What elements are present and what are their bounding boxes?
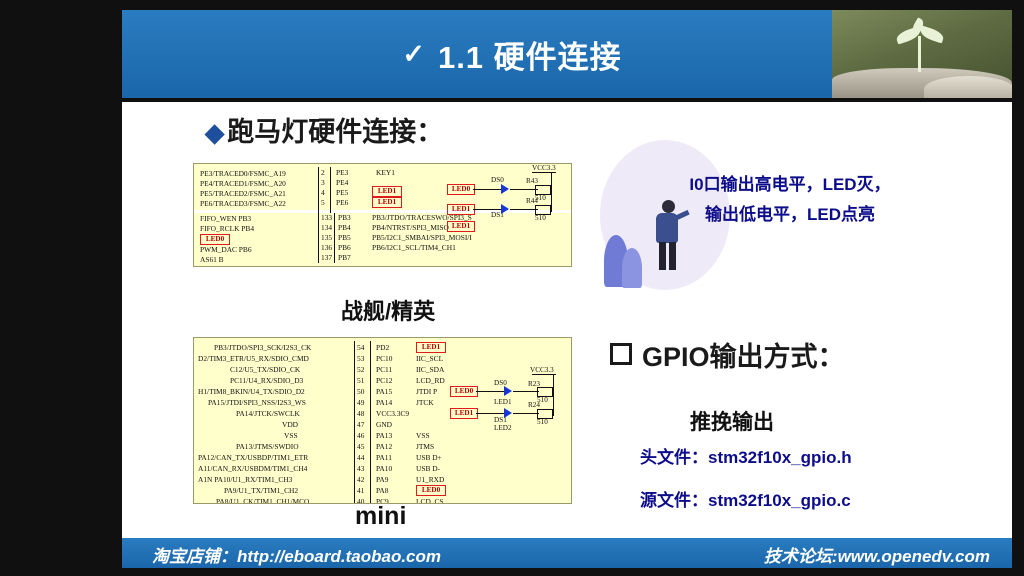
heading-runlight-text: 跑马灯硬件连接： <box>227 117 443 147</box>
photo-stone-2 <box>924 76 1012 98</box>
sch1-right-4: PB3 <box>338 213 351 222</box>
sch2-name-2: PC11 <box>376 365 392 374</box>
caption-board-mini: mini <box>355 502 406 531</box>
sch1-right-8: PB7 <box>338 253 351 262</box>
sch1-pin-7: PWM_DAC PB6 <box>200 245 252 254</box>
caption-board-zhanjian: 战舰/精英 <box>341 294 435 326</box>
sch2-label-led2: LED2 <box>494 424 512 432</box>
sch1-num-8: 137 <box>321 253 332 262</box>
sch2-name-6: VCC3.3C9 <box>376 409 409 418</box>
sch1-sig-7: PB6/I2C1_SCL/TIM4_CH1 <box>372 243 456 252</box>
push-pull-text: 推挽输出 <box>690 406 774 436</box>
sch2-sig-14: LCD_CS <box>416 497 444 504</box>
sch1-label-ds0: DS0 <box>491 176 504 184</box>
sch1-right-5: PB4 <box>338 223 351 232</box>
sch2-left-3: PC11/U4_RX/SDIO_D3 <box>230 376 303 385</box>
diamond-icon: ◆ <box>205 119 224 147</box>
sch2-name-5: PA14 <box>376 398 392 407</box>
check-icon: ✓ <box>402 39 426 70</box>
sprout-stem <box>918 36 921 72</box>
sch1-netlabel-led1-c: LED1 <box>447 221 475 232</box>
sch2-num-9: 45 <box>357 442 364 451</box>
sch2-left-2: C12/U5_TX/SDIO_CK <box>230 365 300 374</box>
sch2-left-12: A1N PA10/U1_RX/TIM1_CH3 <box>198 475 292 484</box>
sch2-sig-7: VSS <box>416 431 430 440</box>
sch2-num-12: 42 <box>357 475 364 484</box>
sch2-left-1: D2/TIM3_ETR/U5_RX/SDIO_CMD <box>198 354 309 363</box>
sch2-left-0: PB3/JTDO/SPI3_SCK/I2S3_CK <box>214 343 311 352</box>
footer-shop-link[interactable]: 淘宝店铺：http://eboard.taobao.com <box>152 542 441 567</box>
person-leg-left <box>659 242 666 270</box>
sch2-name-1: PC10 <box>376 354 392 363</box>
sch1-led1-symbol <box>501 204 509 214</box>
sch1-num-0: 2 <box>321 168 325 177</box>
sch2-sig-4: JTDI P <box>416 387 437 396</box>
sch1-label-510b: 510 <box>535 214 546 222</box>
sch2-label-led1b: LED1 <box>494 398 512 406</box>
frame-right <box>1012 0 1024 576</box>
sch2-left-6: PA14/JTCK/SWCLK <box>236 409 300 418</box>
sch1-pin-3: PE6/TRACED3/FSMC_A22 <box>200 199 286 208</box>
sch1-sig-0: KEY1 <box>376 168 395 177</box>
sch2-sig-5: JTCK <box>416 398 434 407</box>
sch2-left-14: PA8/U1_CK/TIM1_CH1/MCO <box>216 497 309 504</box>
source-file-text: 源文件：stm32f10x_gpio.c <box>640 486 851 511</box>
sch1-led0-symbol <box>501 184 509 194</box>
sch2-sig-led0: LED0 <box>416 485 446 496</box>
sch1-sig-6: PB5/I2C1_SMBAI/SPI3_MOSI/I <box>372 233 472 242</box>
sch2-name-7: GND <box>376 420 392 429</box>
sch1-label-510a: 510 <box>535 194 546 202</box>
square-bullet-icon <box>610 343 632 365</box>
sch1-label-vcc: VCC3.3 <box>532 164 556 172</box>
sch2-num-3: 51 <box>357 376 364 385</box>
sch2-num-6: 48 <box>357 409 364 418</box>
sch1-pin-8: AS61 B <box>200 255 224 264</box>
sch1-right-2: PE5 <box>336 188 348 197</box>
sch2-left-10: PA12/CAN_TX/USBDP/TIM1_ETR <box>198 453 308 462</box>
sch2-name-10: PA11 <box>376 453 392 462</box>
sch1-num-1: 3 <box>321 178 325 187</box>
page-title: ✓ 1.1 硬件连接 <box>122 10 902 98</box>
sch2-name-8: PA13 <box>376 431 392 440</box>
sch2-name-13: PA8 <box>376 486 388 495</box>
sch2-label-510b: 510 <box>537 418 548 426</box>
sch2-num-1: 53 <box>357 354 364 363</box>
sch2-name-12: PA9 <box>376 475 388 484</box>
sch2-netlabel-led0: LED0 <box>450 386 478 397</box>
sch2-num-7: 47 <box>357 420 364 429</box>
sch2-left-13: PA9/U1_TX/TIM1_CH2 <box>224 486 298 495</box>
note-text: I0口输出高电平，LED灭， 输出低电平，LED点亮 <box>640 170 940 230</box>
frame-bottom <box>0 568 1024 576</box>
sch1-pin-2: PE5/TRACED2/FSMC_A21 <box>200 189 286 198</box>
page-title-text: 1.1 硬件连接 <box>438 32 622 77</box>
sch2-left-11: A11/CAN_RX/USBDM/TIM1_CH4 <box>198 464 307 473</box>
sch2-left-7: VDD <box>282 420 298 429</box>
sch2-sig-10: USB D- <box>416 464 440 473</box>
sch1-pin-1: PE4/TRACED1/FSMC_A20 <box>200 179 286 188</box>
sch2-sig-3: LCD_RD <box>416 376 445 385</box>
sch1-right-6: PB5 <box>338 233 351 242</box>
sch2-num-5: 49 <box>357 398 364 407</box>
sch1-pin-0: PE3/TRACED0/FSMC_A19 <box>200 169 286 178</box>
sch2-num-8: 46 <box>357 431 364 440</box>
sch1-sig-5: PB4/NTRST/SPI3_MISO <box>372 223 449 232</box>
plant-icon-2 <box>622 248 642 288</box>
schematic-board-mini: PB3/JTDO/SPI3_SCK/I2S3_CK D2/TIM3_ETR/U5… <box>193 337 572 504</box>
sch2-label-vcc: VCC3.3 <box>530 366 554 374</box>
header-file-text: 头文件：stm32f10x_gpio.h <box>640 443 852 468</box>
sch2-sig-2: IIC_SDA <box>416 365 444 374</box>
sch2-num-11: 43 <box>357 464 364 473</box>
sch2-num-10: 44 <box>357 453 364 462</box>
sch1-pin-5: FIFO_RCLK PB4 <box>200 224 254 233</box>
schematic-board-zhanjian: PE3/TRACED0/FSMC_A19 PE4/TRACED1/FSMC_A2… <box>193 163 572 267</box>
sch1-netlabel-led1-b: LED1 <box>372 197 402 208</box>
sch2-num-13: 41 <box>357 486 364 495</box>
sch2-sig-1: IIC_SCL <box>416 354 443 363</box>
sch2-sig-8: JTMS <box>416 442 434 451</box>
sch1-right-7: PB6 <box>338 243 351 252</box>
sch2-sig-11: U1_RXD <box>416 475 444 484</box>
sch1-right-1: PE4 <box>336 178 348 187</box>
sch2-num-4: 50 <box>357 387 364 396</box>
heading-runlight: ◆跑马灯硬件连接： <box>205 110 443 149</box>
sch1-num-7: 136 <box>321 243 332 252</box>
heading-gpio-text: GPIO输出方式： <box>642 342 845 372</box>
sch2-led1-symbol <box>504 408 512 418</box>
note-line-1: I0口输出高电平，LED灭， <box>640 170 940 200</box>
person-leg-right <box>669 242 676 270</box>
sch2-num-2: 52 <box>357 365 364 374</box>
sch2-label-510a: 510 <box>537 396 548 404</box>
sch1-num-3: 5 <box>321 198 325 207</box>
sch1-num-5: 134 <box>321 223 332 232</box>
sch2-name-3: PC12 <box>376 376 392 385</box>
sch1-num-6: 135 <box>321 233 332 242</box>
sch2-name-0: PD2 <box>376 343 389 352</box>
note-line-2: 输出低电平，LED点亮 <box>640 200 940 230</box>
sch1-netlabel-led1-a: LED1 <box>372 186 402 197</box>
sch2-sig-led1: LED1 <box>416 342 446 353</box>
sch1-label-r43: R43 <box>526 177 538 185</box>
footer-bar: 淘宝店铺：http://eboard.taobao.com 技术论坛:www.o… <box>122 538 1012 568</box>
frame-top <box>0 0 1024 10</box>
sch1-netlabel-led0: LED0 <box>447 184 475 195</box>
sch1-pin-6: LED0 <box>200 234 230 245</box>
sch1-right-3: PE6 <box>336 198 348 207</box>
title-bar: ✓ 1.1 硬件连接 <box>122 10 1012 98</box>
sch2-left-5: PA15/JTDI/SPI3_NSS/I2S3_WS <box>208 398 306 407</box>
sch2-name-4: PA15 <box>376 387 392 396</box>
decorative-photo <box>832 10 1012 98</box>
heading-gpio: GPIO输出方式： <box>610 335 845 374</box>
frame-left <box>0 0 122 576</box>
sch2-netlabel-led1: LED1 <box>450 408 478 419</box>
sch1-pin-4: FIFO_WEN PB3 <box>200 214 251 223</box>
sch1-num-4: 133 <box>321 213 332 222</box>
footer-forum-link[interactable]: 技术论坛:www.openedv.com <box>764 542 990 567</box>
slide: ✓ 1.1 硬件连接 ◆跑马灯硬件连接： GPIO输出方式： PE3/TRACE… <box>0 0 1024 576</box>
sch2-left-4: H1/TIM8_BKIN/U4_TX/SDIO_D2 <box>198 387 305 396</box>
sch2-led0-symbol <box>504 386 512 396</box>
sch2-left-9: PA13/JTMS/SWDIO <box>236 442 299 451</box>
sch1-num-2: 4 <box>321 188 325 197</box>
sch2-left-8: VSS <box>284 431 298 440</box>
sch1-right-0: PE3 <box>336 168 348 177</box>
sch2-num-0: 54 <box>357 343 364 352</box>
title-underline <box>122 98 1012 102</box>
sch2-name-9: PA12 <box>376 442 392 451</box>
sch2-name-11: PA10 <box>376 464 392 473</box>
